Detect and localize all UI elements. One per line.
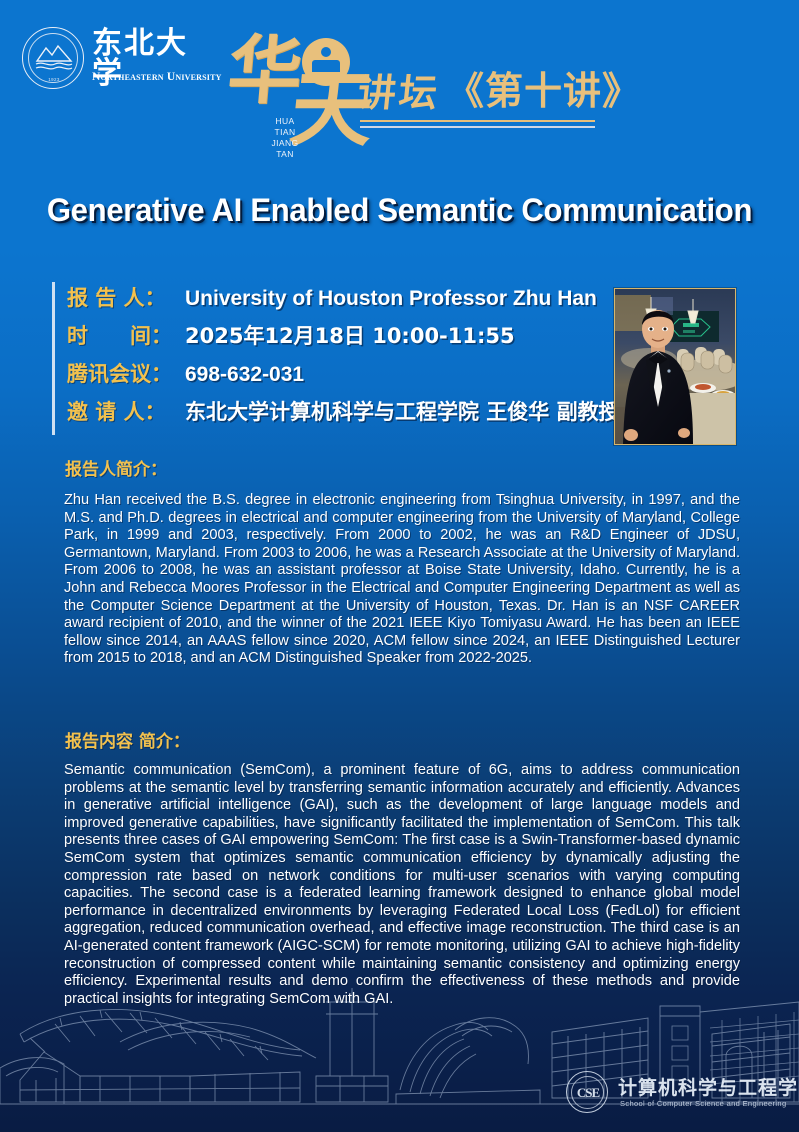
info-label-time: 时 间： [67, 320, 185, 350]
calligraphy-rule-gold [360, 120, 595, 122]
event-info-block: 报 告 人： University of Houston Professor Z… [52, 282, 612, 437]
series-name-jiangtan: 讲坛 [356, 74, 442, 112]
series-calligraphy-logo: 华 天 HUA TIAN JIANG TAN 讲坛 《第十讲》 [228, 32, 628, 177]
info-label-meeting: 腾讯会议： [67, 358, 185, 388]
university-name-en: Northeastern University [92, 71, 222, 83]
calligraphy-rule-light [360, 126, 595, 128]
school-name-cn: 计算机科学与工程学院 [618, 1073, 799, 1100]
bio-text: Zhu Han received the B.S. degree in elec… [64, 492, 740, 668]
page-title: Generative AI Enabled Semantic Communica… [12, 192, 787, 229]
university-seal-icon: 1923 [22, 27, 84, 89]
lecture-poster: 1923 东北大学 Northeastern University 华 天 HU… [0, 0, 799, 1132]
info-row-host: 邀 请 人： 东北大学计算机科学与工程学院 王俊华 副教授 [67, 396, 620, 434]
seal-mountain-wave-icon [33, 42, 75, 72]
info-accent-bar [52, 282, 55, 435]
info-label-host: 邀 请 人： [67, 396, 185, 426]
info-label-speaker: 报 告 人： [67, 282, 185, 312]
info-value-time: 2025年12月18日 10:00-11:55 [185, 320, 515, 350]
poster-header: 1923 东北大学 Northeastern University 华 天 HU… [0, 0, 799, 178]
info-value-meeting: 698-632-031 [185, 363, 304, 387]
abstract-heading: 报告内容 简介： [65, 727, 190, 752]
cse-seal-icon: CSE [566, 1071, 608, 1113]
info-value-speaker: University of Houston Professor Zhu Han [185, 287, 597, 311]
series-episode-number: 《第十讲》 [446, 72, 641, 110]
info-row-meeting: 腾讯会议： 698-632-031 [67, 358, 620, 396]
series-pinyin: HUA TIAN JIANG TAN [268, 116, 302, 160]
info-row-speaker: 报 告 人： University of Houston Professor Z… [67, 282, 620, 320]
bio-heading: 报告人简介： [65, 455, 167, 480]
northeastern-university-logo: 1923 东北大学 Northeastern University [22, 25, 208, 95]
seal-year: 1923 [23, 77, 85, 82]
school-name-en: School of Computer Science and Engineeri… [620, 1099, 786, 1108]
speaker-photo [614, 288, 736, 445]
info-row-time: 时 间： 2025年12月18日 10:00-11:55 [67, 320, 620, 358]
cse-monogram: CSE [576, 1083, 600, 1103]
info-value-host: 东北大学计算机科学与工程学院 王俊华 副教授 [185, 396, 620, 426]
school-footer-logo: CSE 计算机科学与工程学院 School of Computer Scienc… [566, 1069, 786, 1121]
